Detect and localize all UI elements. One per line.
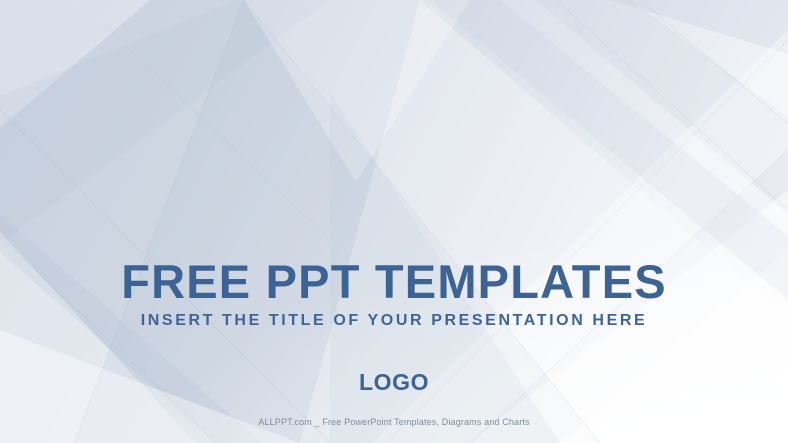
slide-subtitle: INSERT THE TITLE OF YOUR PRESENTATION HE…	[0, 313, 788, 329]
presentation-slide: FREE PPT TEMPLATES INSERT THE TITLE OF Y…	[0, 0, 788, 443]
slide-text-block: FREE PPT TEMPLATES INSERT THE TITLE OF Y…	[0, 0, 788, 443]
slide-footer-credit: ALLPPT.com _ Free PowerPoint Templates, …	[0, 418, 788, 427]
logo-placeholder: LOGO	[0, 371, 788, 394]
slide-title: FREE PPT TEMPLATES	[0, 258, 788, 305]
